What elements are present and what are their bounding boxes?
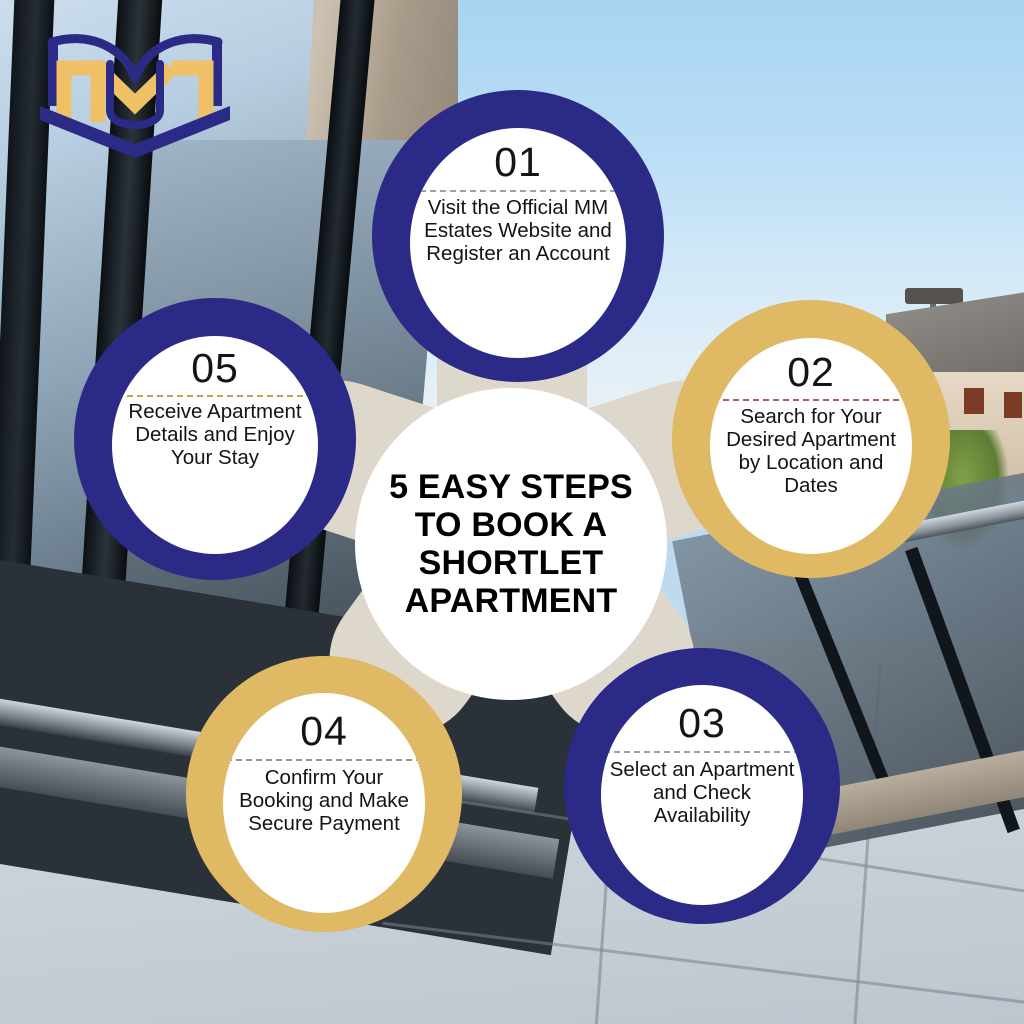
infographic-canvas: 01 Visit the Official MM Estates Website… xyxy=(0,0,1024,1024)
center-title-circle: 5 EASY STEPS TO BOOK A SHORTLET APARTMEN… xyxy=(355,388,667,700)
step-number-02: 02 xyxy=(787,352,835,393)
step-divider-01 xyxy=(420,190,616,192)
page-title: 5 EASY STEPS TO BOOK A SHORTLET APARTMEN… xyxy=(372,468,650,620)
step-number-03: 03 xyxy=(678,703,726,744)
building-window xyxy=(1004,392,1022,418)
step-bubble-05[interactable]: 05 Receive Apartment Details and Enjoy Y… xyxy=(74,298,356,580)
step-text-03: Select an Apartment and Check Availabili… xyxy=(601,759,803,828)
step-divider-04 xyxy=(226,759,422,761)
step-text-01: Visit the Official MM Estates Website an… xyxy=(410,197,626,266)
step-content-01: 01 Visit the Official MM Estates Website… xyxy=(410,128,626,358)
step-number-04: 04 xyxy=(300,711,348,752)
step-divider-03 xyxy=(604,751,800,753)
mm-estates-logo xyxy=(26,26,244,160)
step-text-05: Receive Apartment Details and Enjoy Your… xyxy=(112,401,318,470)
step-number-01: 01 xyxy=(494,142,542,183)
step-bubble-04[interactable]: 04 Confirm Your Booking and Make Secure … xyxy=(186,656,462,932)
step-content-04: 04 Confirm Your Booking and Make Secure … xyxy=(223,693,425,913)
step-bubble-01[interactable]: 01 Visit the Official MM Estates Website… xyxy=(372,90,664,382)
step-bubble-02[interactable]: 02 Search for Your Desired Apartment by … xyxy=(672,300,950,578)
step-content-02: 02 Search for Your Desired Apartment by … xyxy=(710,338,912,554)
step-number-05: 05 xyxy=(191,348,239,389)
step-content-03: 03 Select an Apartment and Check Availab… xyxy=(601,685,803,905)
step-content-05: 05 Receive Apartment Details and Enjoy Y… xyxy=(112,336,318,554)
antenna-dish-icon xyxy=(905,288,963,304)
step-bubble-03[interactable]: 03 Select an Apartment and Check Availab… xyxy=(564,648,840,924)
building-window xyxy=(964,388,984,414)
step-divider-02 xyxy=(713,399,909,401)
step-divider-05 xyxy=(117,395,313,397)
step-text-02: Search for Your Desired Apartment by Loc… xyxy=(710,406,912,498)
step-text-04: Confirm Your Booking and Make Secure Pay… xyxy=(223,767,425,836)
